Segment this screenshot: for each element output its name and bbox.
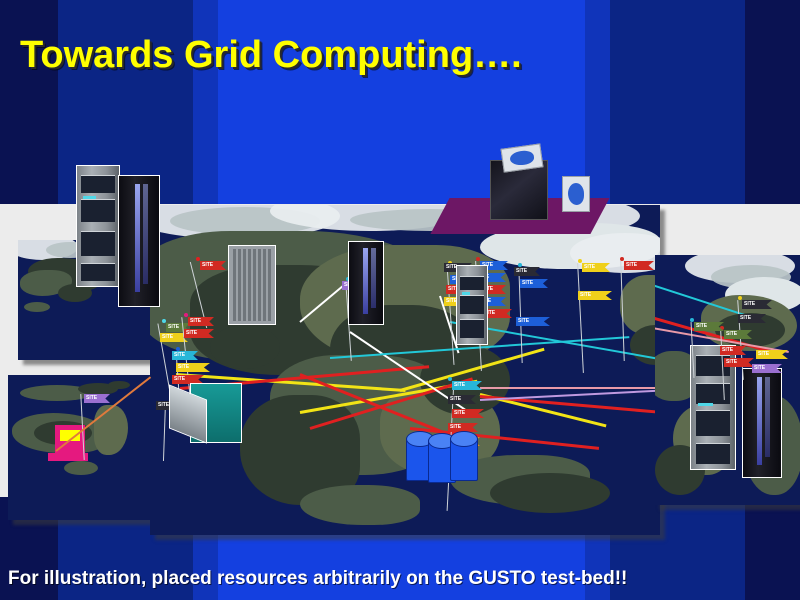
teal-server-cabinet [190,383,242,443]
network-link-pink-1 [480,387,660,389]
server-rack-black-right [742,368,782,478]
workstation-keyboard [48,453,88,461]
server-rack-black-left [118,175,160,307]
grid-illustration: SITE SITE SITE SITE SITE SITE SITE SITE [0,150,800,500]
server-rack-black-center [348,241,384,325]
slide-caption: For illustration, placed resources arbit… [8,568,627,590]
louvered-cabinet-center [228,245,276,325]
slide-canvas: Towards Grid Computing…. [0,0,800,600]
server-rack-silver-center [456,265,488,345]
map-panel-main: SITE SITE SITE SITE SITE SITE SITE SITE [150,205,660,535]
server-rack-silver-left [76,165,120,287]
supercomputer-side-screen [562,176,590,212]
slide-title: Towards Grid Computing…. [20,34,522,77]
